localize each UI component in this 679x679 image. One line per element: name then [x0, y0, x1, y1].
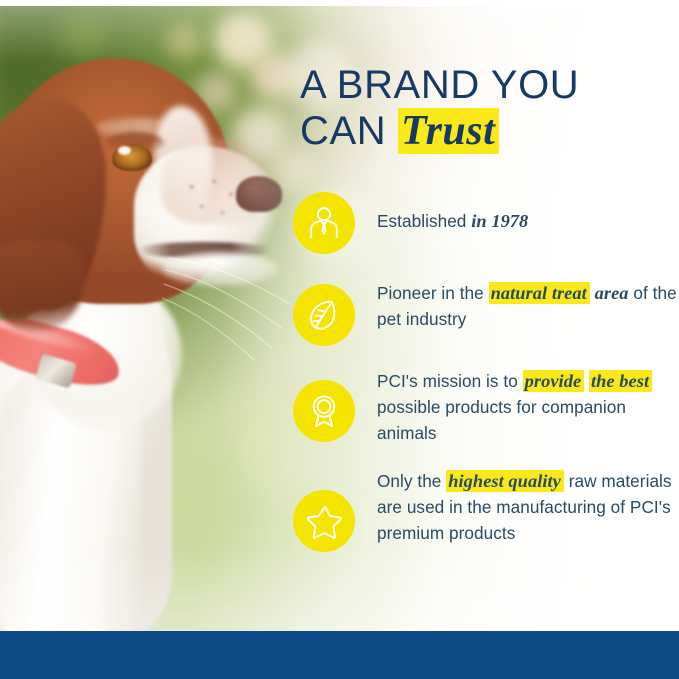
- highlighted-text: provide: [523, 370, 585, 392]
- list-item: Established in 1978: [293, 192, 679, 254]
- highlighted-text: the best: [589, 370, 652, 392]
- badge-circle-award: [293, 380, 355, 442]
- award-ribbon-icon: [307, 394, 341, 428]
- person-tie-icon: [307, 206, 341, 240]
- highlighted-text: natural treat: [489, 282, 590, 304]
- page-title: A BRAND YOU CAN Trust: [300, 62, 670, 154]
- badge-circle-star: [293, 490, 355, 552]
- badge-circle-leaf: [293, 284, 355, 346]
- list-item-text: Pioneer in the natural treat area of the…: [377, 276, 679, 332]
- headline-line-1: A BRAND YOU: [300, 62, 670, 108]
- star-icon: [306, 503, 342, 539]
- list-item-text: Established in 1978: [377, 192, 528, 234]
- promo-graphic: A BRAND YOU CAN Trust Established in 1: [0, 0, 679, 679]
- emphasis-text: in 1978: [471, 211, 528, 231]
- plain-text: PCI's mission is to: [377, 371, 523, 391]
- bottom-navy-bar: [0, 631, 679, 679]
- badge-circle-person: [293, 192, 355, 254]
- plain-text: possible products for companion animals: [377, 397, 626, 443]
- leaf-icon: [307, 298, 341, 332]
- highlighted-text: highest quality: [446, 470, 564, 492]
- headline-line-1-text: A BRAND YOU: [300, 63, 579, 107]
- headline-line-2-plain: CAN: [300, 109, 398, 153]
- list-item-text: Only the highest quality raw materials a…: [377, 468, 679, 546]
- plain-text: Pioneer in the: [377, 283, 489, 303]
- plain-text: Only the: [377, 471, 446, 491]
- list-item: Pioneer in the natural treat area of the…: [293, 276, 679, 346]
- headline-line-2-script: Trust: [398, 108, 499, 154]
- plain-text: Established: [377, 211, 471, 231]
- feature-list: Established in 1978 Pioneer in the natur…: [293, 192, 679, 552]
- headline-line-2: CAN Trust: [300, 108, 670, 154]
- list-item-text: PCI's mission is to provide the best pos…: [377, 368, 679, 446]
- emphasis-text: area: [595, 283, 629, 303]
- list-item: PCI's mission is to provide the best pos…: [293, 368, 679, 446]
- list-item: Only the highest quality raw materials a…: [293, 468, 679, 552]
